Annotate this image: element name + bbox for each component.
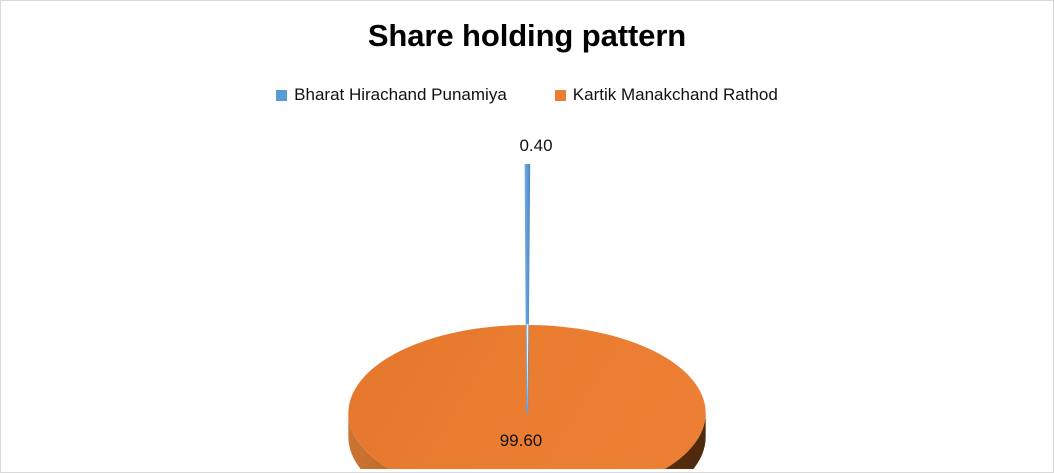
data-label-bharat-hirachand-punamiya: 0.40	[1, 136, 1053, 156]
legend-item-label: Bharat Hirachand Punamiya	[294, 85, 507, 105]
chart-container: Share holding pattern Bharat Hirachand P…	[0, 0, 1054, 473]
legend-color-swatch-icon	[555, 90, 566, 101]
pie-plot-area	[1, 119, 1053, 469]
data-label-value: 0.40	[519, 136, 552, 155]
legend-item-kartik-manakchand-rathod[interactable]: Kartik Manakchand Rathod	[555, 85, 778, 105]
data-label-kartik-manakchand-rathod: 99.60	[1, 431, 1053, 451]
chart-legend: Bharat Hirachand Punamiya Kartik Manakch…	[1, 85, 1053, 105]
pie-chart-graphic	[1, 119, 1053, 469]
data-label-value: 99.60	[500, 431, 543, 450]
chart-title: Share holding pattern	[1, 18, 1053, 54]
legend-item-label: Kartik Manakchand Rathod	[573, 85, 778, 105]
legend-color-swatch-icon	[276, 90, 287, 101]
legend-item-bharat-hirachand-punamiya[interactable]: Bharat Hirachand Punamiya	[276, 85, 507, 105]
